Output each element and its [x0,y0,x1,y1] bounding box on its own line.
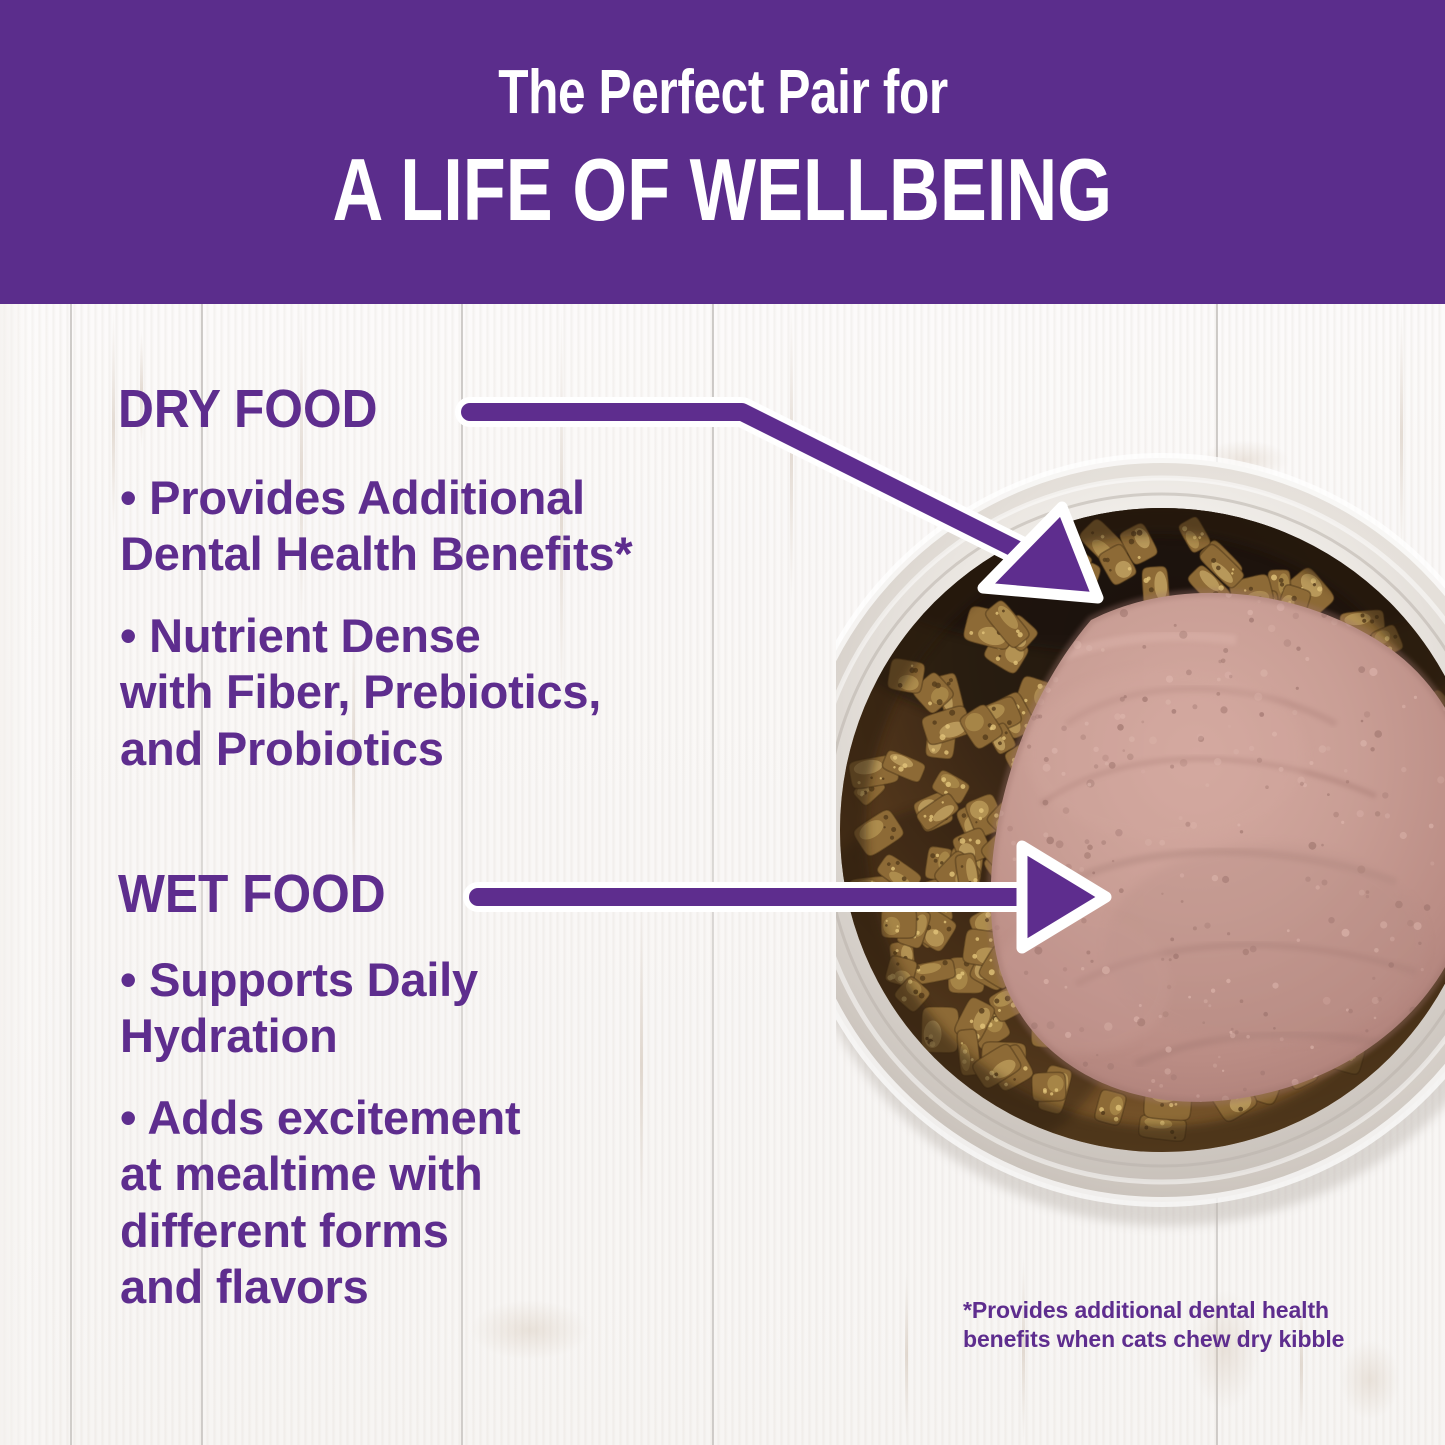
bullet-dry-1: • Provides Additional Dental Health Bene… [120,470,760,583]
bullet-wet-1: • Supports Daily Hydration [120,952,760,1065]
pet-food-bowl-image [836,424,1445,1260]
banner-line-1: The Perfect Pair for [498,62,948,124]
bullet-wet-2: • Adds excitement at mealtime with diffe… [120,1090,760,1316]
bullet-dry-2: • Nutrient Dense with Fiber, Prebiotics,… [120,608,760,777]
wood-grain [905,1270,908,1440]
wood-grain [112,310,115,540]
bowl-illustration [836,424,1445,1260]
promo-graphic: The Perfect Pair for A LIFE OF WELLBEING [0,0,1445,1445]
header-banner: The Perfect Pair for A LIFE OF WELLBEING [0,0,1445,304]
banner-line-2: A LIFE OF WELLBEING [333,146,1113,234]
footnote-dental-benefits: *Provides additional dental health benef… [963,1296,1393,1354]
section-heading-wet-food: WET FOOD [118,867,386,921]
wood-grain [790,305,793,605]
section-heading-dry-food: DRY FOOD [118,382,377,436]
